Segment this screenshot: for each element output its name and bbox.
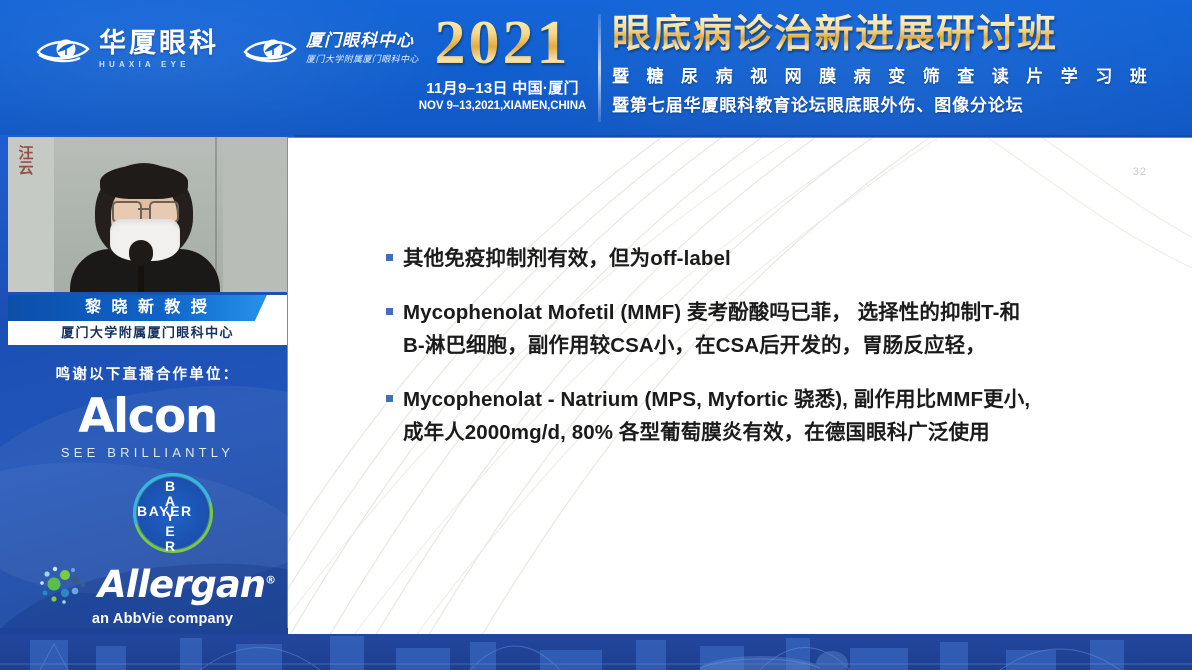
- speaker-glasses-bridge: [138, 208, 151, 210]
- bullet-line: B-淋巴细胞，副作用较CSA小，在CSA后开发的，胃肠反应轻，: [403, 330, 1020, 362]
- event-header-banner: 华厦眼科 HUAXIA EYE 厦门眼科中心 厦门大学附属厦门眼科中心: [0, 0, 1192, 135]
- sponsor-alcon: Alcon SEE BRILLIANTLY: [0, 393, 295, 460]
- alcon-logo: Alcon: [0, 393, 295, 440]
- sponsor-thanks-label: 鸣谢以下直播合作单位：: [0, 363, 295, 384]
- speaker-nameplate: 黎 晓 新 教 授 厦门大学附属厦门眼科中心: [8, 295, 287, 345]
- huaxia-logo-cn: 华厦眼科: [99, 28, 219, 58]
- list-item: 其他免疫抑制剂有效，但为off-label: [386, 243, 1146, 275]
- event-date-en: NOV 9–13,2021,XIAMEN,CHINA: [415, 100, 590, 112]
- speaker-affiliation: 厦门大学附属厦门眼科中心: [8, 321, 287, 345]
- square-bullet-icon: [386, 254, 393, 261]
- huaxia-logo-en: HUAXIA EYE: [99, 61, 219, 69]
- alcon-tagline: SEE BRILLIANTLY: [0, 445, 295, 460]
- event-year: 2021: [415, 12, 590, 74]
- livestream-page: 华厦眼科 HUAXIA EYE 厦门眼科中心 厦门大学附属厦门眼科中心: [0, 0, 1192, 670]
- xiamen-center-cn: 厦门眼科中心: [306, 32, 419, 49]
- square-bullet-icon: [386, 308, 393, 315]
- event-date-cn: 11月9–13日 中国·厦门: [415, 77, 590, 98]
- bullet-line: 成年人2000mg/d, 80% 各型葡萄膜炎有效，在德国眼科广泛使用: [403, 417, 1030, 449]
- list-item: Mycophenolat - Natrium (MPS, Myfortic 骁悉…: [386, 384, 1146, 449]
- header-divider: [598, 14, 601, 122]
- speaker-video-feed[interactable]: 汪云: [8, 137, 287, 292]
- sidebar-panel: 汪云 黎 晓 新 教 授 厦门大学附属厦门眼科中心 鸣谢以下直播合作单位： Al…: [0, 135, 295, 670]
- square-bullet-icon: [386, 395, 393, 402]
- bullet-line: Mycophenolat - Natrium (MPS, Myfortic 骁悉…: [403, 384, 1030, 416]
- allergan-tagline: an AbbVie company: [40, 611, 285, 627]
- event-date-block: 2021 11月9–13日 中国·厦门 NOV 9–13,2021,XIAMEN…: [415, 12, 590, 112]
- slide-bullet-list: 其他免疫抑制剂有效，但为off-label Mycophenolat Mofet…: [386, 243, 1146, 471]
- allergan-wordmark: Allergan: [98, 563, 265, 606]
- eye-logo-icon: [243, 36, 297, 64]
- video-background-seam: [215, 137, 217, 292]
- event-title-main: 眼底病诊治新进展研讨班: [612, 14, 1174, 56]
- video-overlay-text: 汪云: [13, 145, 36, 175]
- presentation-slide[interactable]: 32 其他免疫抑制剂有效，但为off-label Mycophenolat Mo…: [288, 138, 1192, 638]
- microphone-icon: [129, 240, 153, 266]
- xiamen-eye-center-logo: 厦门眼科中心 厦门大学附属厦门眼科中心: [243, 32, 419, 67]
- event-title-sub2: 暨第七届华厦眼科教育论坛眼底眼外伤、图像分论坛: [612, 91, 1174, 116]
- skyline-footer-decoration: [0, 634, 1192, 670]
- sponsor-bayer: BAYER BAYER: [133, 473, 207, 547]
- bullet-text: Mycophenolat - Natrium (MPS, Myfortic 骁悉…: [403, 384, 1030, 449]
- eye-logo-icon: [36, 36, 90, 64]
- slide-page-number: 32: [1133, 166, 1147, 178]
- xiamen-center-sub: 厦门大学附属厦门眼科中心: [306, 54, 419, 64]
- allergan-dots-logo: [40, 563, 90, 605]
- bullet-text: Mycophenolat Mofetil (MMF) 麦考酚酸吗已菲， 选择性的…: [403, 297, 1020, 362]
- video-background: [223, 137, 287, 292]
- bayer-word-vertical: BAYER: [163, 478, 177, 553]
- allergan-trademark: ®: [265, 573, 275, 586]
- bullet-line: Mycophenolat Mofetil (MMF) 麦考酚酸吗已菲， 选择性的…: [403, 297, 1020, 329]
- bullet-line: 其他免疫抑制剂有效，但为off-label: [403, 243, 731, 275]
- list-item: Mycophenolat Mofetil (MMF) 麦考酚酸吗已菲， 选择性的…: [386, 297, 1146, 362]
- event-title-sub1: 暨 糖 尿 病 视 网 膜 病 变 筛 查 读 片 学 习 班: [612, 62, 1174, 87]
- event-title-block: 眼底病诊治新进展研讨班 暨 糖 尿 病 视 网 膜 病 变 筛 查 读 片 学 …: [612, 14, 1174, 116]
- sponsor-allergan: Allergan® an AbbVie company: [40, 563, 285, 627]
- speaker-fringe: [100, 165, 188, 199]
- huaxia-eye-logo: 华厦眼科 HUAXIA EYE: [36, 30, 219, 69]
- bullet-text: 其他免疫抑制剂有效，但为off-label: [403, 243, 731, 275]
- speaker-name: 黎 晓 新 教 授: [8, 295, 287, 321]
- allergan-logo: Allergan®: [98, 566, 275, 603]
